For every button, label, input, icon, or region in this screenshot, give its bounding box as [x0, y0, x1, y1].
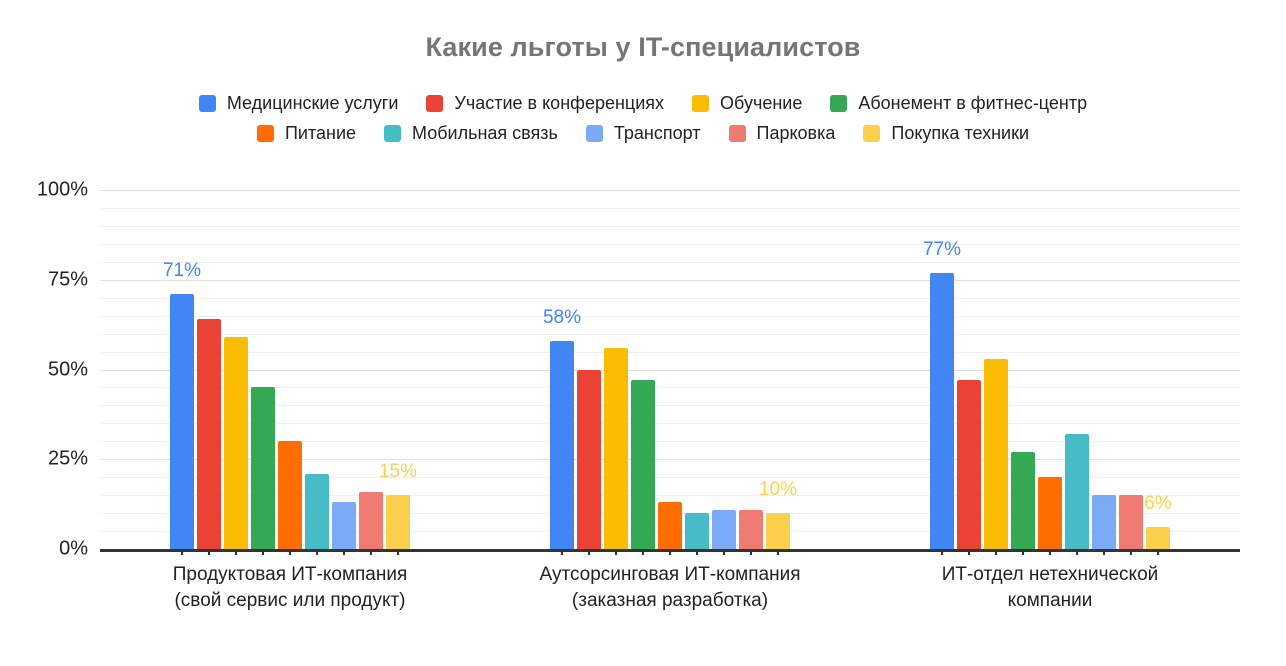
bar[interactable] [170, 294, 194, 549]
legend-swatch-icon [863, 125, 880, 142]
legend-swatch-icon [729, 125, 746, 142]
bar-group-bars: 58%10% [480, 190, 860, 549]
x-axis-category-label-line: (заказная разработка) [480, 588, 860, 614]
legend-item-label: Парковка [757, 123, 836, 144]
bar-slot [983, 190, 1010, 549]
bar[interactable] [604, 348, 628, 549]
bar-slot [657, 190, 684, 549]
legend-swatch-icon [586, 125, 603, 142]
chart-container: Какие льготы у IT-специалистов Медицинск… [0, 0, 1286, 666]
legend-swatch-icon [257, 125, 274, 142]
bar-slot: 77% [929, 190, 956, 549]
bar[interactable] [957, 380, 981, 549]
bar[interactable] [1146, 527, 1170, 549]
bar-slot [956, 190, 983, 549]
bar-slot: 10% [765, 190, 792, 549]
y-axis-tick-label: 25% [10, 448, 88, 471]
legend-swatch-icon [426, 95, 443, 112]
legend-item[interactable]: Медицинские услуги [199, 93, 399, 114]
plot-area: 71%15%58%10%77%6% [100, 190, 1240, 549]
bar-slot [331, 190, 358, 549]
legend-item[interactable]: Парковка [729, 123, 836, 144]
legend-swatch-icon [830, 95, 847, 112]
legend-item[interactable]: Обучение [692, 93, 802, 114]
bar[interactable] [197, 319, 221, 549]
y-axis-tick-label: 100% [10, 179, 88, 202]
bar[interactable] [766, 513, 790, 549]
x-axis-category-label-line: Продуктовая ИТ-компания [100, 562, 480, 588]
x-axis-category-label-line: ИТ-отдел нетехнической [860, 562, 1240, 588]
legend-swatch-icon [692, 95, 709, 112]
x-axis-category-label-line: Аутсорсинговая ИТ-компания [480, 562, 860, 588]
bar[interactable] [685, 513, 709, 549]
bar-slot [250, 190, 277, 549]
bar[interactable] [550, 341, 574, 549]
y-axis-tick-label: 75% [10, 268, 88, 291]
bar-slot [358, 190, 385, 549]
bar[interactable] [712, 510, 736, 549]
bar[interactable] [930, 273, 954, 549]
bar-slot [576, 190, 603, 549]
bar-slot: 58% [549, 190, 576, 549]
chart-title: Какие льготы у IT-специалистов [0, 32, 1286, 63]
bar-group: 71%15% [100, 190, 480, 549]
legend-item-label: Абонемент в фитнес-центр [858, 93, 1087, 114]
legend-item[interactable]: Абонемент в фитнес-центр [830, 93, 1087, 114]
bar-group: 77%6% [860, 190, 1240, 549]
legend-item-label: Мобильная связь [412, 123, 558, 144]
bar-slot [223, 190, 250, 549]
y-axis-tick-label: 0% [10, 538, 88, 561]
bar-slot [1064, 190, 1091, 549]
bar-groups: 71%15%58%10%77%6% [100, 190, 1240, 549]
bar-value-label: 6% [1144, 493, 1171, 515]
bar-slot: 6% [1145, 190, 1172, 549]
bar-group-bars: 77%6% [860, 190, 1240, 549]
bar[interactable] [1119, 495, 1143, 549]
bar[interactable] [251, 387, 275, 549]
legend-item[interactable]: Мобильная связь [384, 123, 558, 144]
bar-slot [630, 190, 657, 549]
bar-slot [711, 190, 738, 549]
bar-slot [1091, 190, 1118, 549]
x-axis-category-label: ИТ-отдел нетехническойкомпании [860, 562, 1240, 632]
x-axis-baseline [100, 549, 1240, 552]
y-axis-tick-label: 50% [10, 358, 88, 381]
bar-value-label: 10% [759, 479, 797, 501]
legend-item-label: Обучение [720, 93, 802, 114]
bar-slot: 71% [169, 190, 196, 549]
bar[interactable] [1092, 495, 1116, 549]
legend-item-label: Питание [285, 123, 356, 144]
legend-row: Медицинские услугиУчастие в конференциях… [0, 88, 1286, 118]
bar[interactable] [1011, 452, 1035, 549]
x-axis-category-label-line: компании [860, 588, 1240, 614]
x-axis-category-label: Продуктовая ИТ-компания(свой сервис или … [100, 562, 480, 632]
bar[interactable] [386, 495, 410, 549]
bar[interactable] [224, 337, 248, 549]
legend-item[interactable]: Участие в конференциях [426, 93, 664, 114]
bar[interactable] [631, 380, 655, 549]
legend-item[interactable]: Питание [257, 123, 356, 144]
legend-item-label: Покупка техники [891, 123, 1029, 144]
bar-slot [304, 190, 331, 549]
bar-slot [196, 190, 223, 549]
bar-slot: 15% [385, 190, 412, 549]
bar-slot [1010, 190, 1037, 549]
legend-swatch-icon [384, 125, 401, 142]
bar-slot [603, 190, 630, 549]
bar[interactable] [1065, 434, 1089, 549]
bar-slot [1037, 190, 1064, 549]
legend-item[interactable]: Покупка техники [863, 123, 1029, 144]
chart-legend: Медицинские услугиУчастие в конференциях… [0, 88, 1286, 148]
legend-item[interactable]: Транспорт [586, 123, 701, 144]
bar-group: 58%10% [480, 190, 860, 549]
bar[interactable] [278, 441, 302, 549]
bar[interactable] [984, 359, 1008, 549]
bar-slot [277, 190, 304, 549]
bar-value-label: 15% [379, 461, 417, 483]
bar[interactable] [577, 370, 601, 550]
bar[interactable] [332, 502, 356, 549]
bar[interactable] [658, 502, 682, 549]
bar[interactable] [1038, 477, 1062, 549]
bar-slot [1118, 190, 1145, 549]
bar[interactable] [739, 510, 763, 549]
bar-group-bars: 71%15% [100, 190, 480, 549]
legend-item-label: Медицинские услуги [227, 93, 399, 114]
legend-item-label: Транспорт [614, 123, 701, 144]
x-axis-category-label: Аутсорсинговая ИТ-компания(заказная разр… [480, 562, 860, 632]
legend-item-label: Участие в конференциях [454, 93, 664, 114]
x-axis-labels: Продуктовая ИТ-компания(свой сервис или … [100, 562, 1240, 632]
bar[interactable] [359, 492, 383, 549]
bar-slot [684, 190, 711, 549]
x-axis-category-label-line: (свой сервис или продукт) [100, 588, 480, 614]
bar[interactable] [305, 474, 329, 549]
legend-row: ПитаниеМобильная связьТранспортПарковкаП… [0, 118, 1286, 148]
legend-swatch-icon [199, 95, 216, 112]
